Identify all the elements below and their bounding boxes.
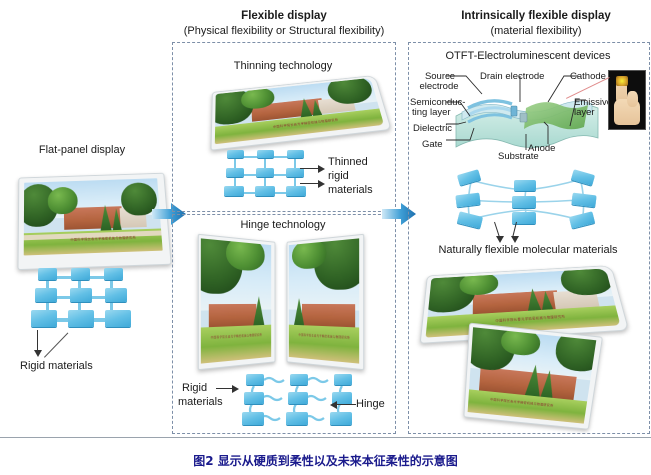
hinge-technology-heading: Hinge technology [176, 219, 390, 231]
rigid-materials-arrow [34, 330, 42, 358]
thinned-rigid-lattice [218, 150, 318, 202]
molecular-arrow-right [510, 222, 520, 244]
semiconducting-label-line2: ting layer [412, 108, 451, 119]
thinned-materials-arrow-bottom [300, 180, 326, 188]
otft-device-heading: OTFT-Electroluminescent devices [412, 50, 644, 62]
rigid-materials-label: Rigid materials [20, 360, 93, 372]
intrinsic-display-subtitle: (material flexibility) [426, 25, 646, 37]
hinge-folded-display: 中国科学院长春光学精密机械与物理研究所 中国科学院长春光学精密机械与物理研究所 [196, 234, 364, 368]
drain-electrode-label: Drain electrode [480, 72, 544, 83]
molecular-arrow-left [494, 222, 504, 244]
dielectric-label: Dielectric [413, 124, 452, 135]
hinge-rigid-arrow [216, 385, 240, 393]
molecular-materials-label: Naturally flexible molecular materials [412, 244, 644, 256]
footer-divider [0, 437, 651, 438]
hinge-label: Hinge [356, 398, 385, 410]
molecular-materials-lattice [452, 170, 606, 232]
rigid-materials-leader [44, 333, 68, 358]
hinge-pointer-arrow [330, 401, 356, 409]
rigid-materials-lattice [26, 268, 138, 330]
thinning-technology-heading: Thinning technology [176, 60, 390, 72]
wearable-hand-photo [608, 70, 646, 130]
thinned-rigid-label-line1: Thinned [328, 156, 368, 168]
hinge-rigid-label-line1: Rigid [182, 382, 207, 394]
hinge-lattice [238, 372, 358, 428]
flexible-display-title: Flexible display [176, 10, 392, 23]
thinned-materials-arrow-top [300, 165, 326, 173]
flexible-display-curved-bottom: 中国科学院长春光学精密机械与物理研究所 [463, 323, 601, 434]
intrinsic-display-title: Intrinsically flexible display [426, 10, 646, 23]
hinge-rigid-label-line2: materials [178, 396, 223, 408]
figure-canvas: Flat-panel display 中国科学院长春光学精密机械与物理研究所 [0, 0, 651, 438]
thinned-rigid-label-line2: rigid [328, 170, 349, 182]
flexible-display-subtitle: (Physical flexibility or Structural flex… [166, 25, 402, 37]
source-electrode-label-line2: electrode [410, 82, 468, 93]
flat-panel-display-label: Flat-panel display [12, 144, 152, 156]
gate-label: Gate [422, 140, 443, 151]
thinned-rigid-label-line3: materials [328, 184, 373, 196]
figure-caption: 图2 显示从硬质到柔性以及未来本征柔性的示意图 [0, 452, 651, 469]
emissive-label-line2: layer [574, 108, 595, 119]
anode-label: Anode [528, 144, 555, 155]
